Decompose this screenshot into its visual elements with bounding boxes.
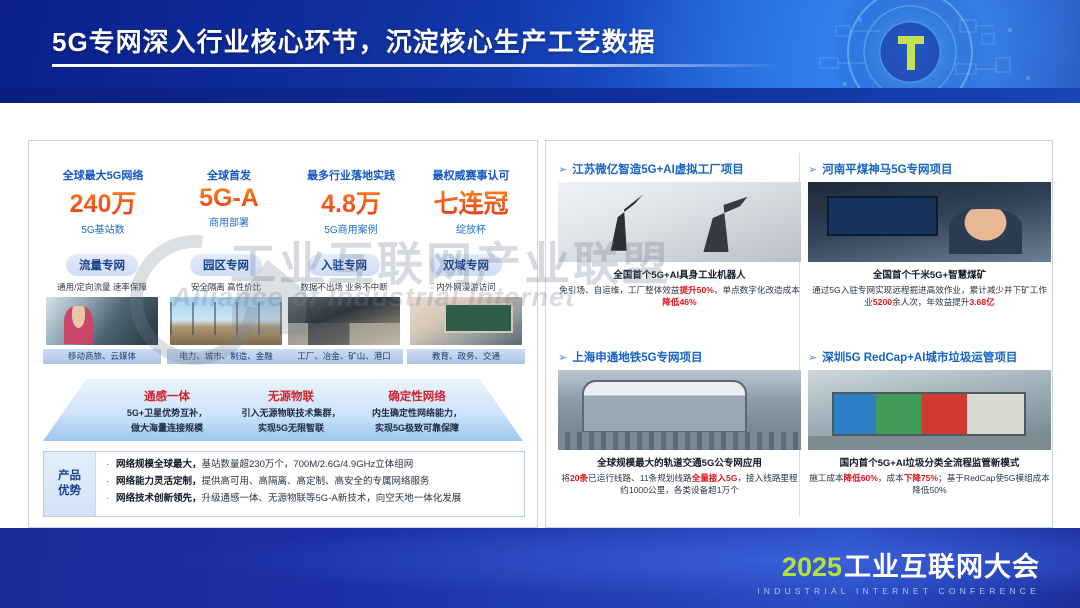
advantages-label-line1: 产品 bbox=[58, 469, 81, 484]
capability-line2: 实现5G极致可靠保障 bbox=[341, 421, 493, 434]
power-grid-photo bbox=[170, 297, 282, 345]
case-body-mid: ，成本 bbox=[878, 473, 904, 483]
case-highlight-1: 降低60% bbox=[844, 473, 878, 483]
case-highlight-2: 下降75% bbox=[904, 473, 938, 483]
case-body-mid: 已运行线路、11条规划线路 bbox=[588, 473, 691, 483]
column-caption: 教育、政务、交通 bbox=[407, 349, 525, 364]
arrow-bullet-icon: ➢ bbox=[558, 163, 567, 176]
advantage-item: · 网络规模全球最大， 基站数量超230万个，700M/2.6G/4.9GHz立… bbox=[106, 458, 518, 471]
classroom-photo bbox=[410, 297, 522, 345]
advantage-bold: 网络技术创新领先， bbox=[116, 492, 202, 505]
product-advantages-box: 产品 优势 · 网络规模全球最大， 基站数量超230万个，700M/2.6G/4… bbox=[43, 451, 525, 517]
case-body: 将20条已运行线路、11条规划线路全量接入5G，接入线路里程约1000公里，各类… bbox=[558, 472, 801, 496]
stat-sub-label: 5G商用案例 bbox=[291, 221, 411, 236]
column-caption: 工厂、冶金、矿山、港口 bbox=[285, 349, 403, 364]
case-headline: 全球规模最大的轨道交通5G公专网应用 bbox=[558, 455, 801, 469]
case-body: 通过5G入驻专网实现远程掘进高效作业，累计减少井下矿工作业5200余人次，年效益… bbox=[808, 284, 1051, 308]
bullet-icon: · bbox=[106, 492, 116, 505]
advantage-rest: 提供高可用、高隔离、高定制、高安全的专属网络服务 bbox=[202, 475, 430, 488]
column-pill-label: 入驻专网 bbox=[308, 254, 380, 276]
case-headline: 全国首个5G+AI具身工业机器人 bbox=[558, 267, 801, 281]
case-title: ➢ 深圳5G RedCap+AI城市垃圾运管项目 bbox=[808, 349, 1051, 365]
stat-sub-label: 商用部署 bbox=[169, 214, 289, 229]
conference-logo-en: INDUSTRIAL INTERNET CONFERENCE bbox=[757, 586, 1040, 596]
header-bottom-bar bbox=[0, 88, 1080, 103]
coal-mine-control-room-photo bbox=[808, 182, 1051, 262]
stat-main-value: 七连冠 bbox=[411, 184, 531, 220]
stat-top-label: 最多行业落地实践 bbox=[291, 167, 411, 183]
column-caption: 电力、城市、制造、金融 bbox=[167, 349, 285, 364]
case-title: ➢ 河南平煤神马5G专网项目 bbox=[808, 161, 1051, 177]
advantage-item: · 网络技术创新领先， 升级通感一体、无源物联等5G-A新技术，向空天地一体化发… bbox=[106, 492, 518, 505]
stat-top-label: 全球首发 bbox=[169, 167, 289, 183]
advantage-bold: 网络规模全球最大， bbox=[116, 458, 202, 471]
slide-header: 5G专网深入行业核心环节，沉淀核心生产工艺数据 bbox=[0, 0, 1080, 103]
case-body-mid: ，单点数字化改造成本 bbox=[714, 285, 800, 295]
stat-main-value: 240万 bbox=[43, 184, 163, 220]
reporter-camera-photo bbox=[46, 297, 158, 345]
capability-title: 确定性网络 bbox=[341, 388, 493, 404]
network-column-3: 双域专网 内外网漫游访问 教育、政务、交通 bbox=[407, 254, 525, 364]
capability-2: 确定性网络 内生确定性网络能力， 实现5G极致可靠保障 bbox=[341, 388, 493, 434]
stat-block-0: 全球最大5G网络 240万 5G基站数 bbox=[43, 167, 163, 236]
metro-train-photo bbox=[558, 370, 801, 450]
advantage-rest: 升级通感一体、无源物联等5G-A新技术，向空天地一体化发展 bbox=[202, 492, 462, 505]
case-headline: 全国首个千米5G+智慧煤矿 bbox=[808, 267, 1051, 281]
case-highlight-2: 全量接入5G bbox=[692, 473, 738, 483]
smart-garbage-bins-photo bbox=[808, 370, 1051, 450]
advantage-item: · 网络能力灵活定制， 提供高可用、高隔离、高定制、高安全的专属网络服务 bbox=[106, 475, 518, 488]
column-pill-label: 流量专网 bbox=[66, 254, 138, 276]
factory-interior-photo bbox=[288, 297, 400, 345]
case-card-0: ➢ 江苏微亿智造5G+AI虚拟工厂项目 全国首个5G+AI具身工业机器人 免引场… bbox=[558, 161, 801, 308]
case-highlight-2: 3.68亿 bbox=[969, 297, 994, 307]
network-column-2: 入驻专网 数据不出场 业务不中断 工厂、冶金、矿山、港口 bbox=[285, 254, 403, 364]
stat-block-3: 最权威赛事认可 七连冠 绽放杯 bbox=[411, 167, 531, 236]
left-panel: 全球最大5G网络 240万 5G基站数 全球首发 5G-A 商用部署 最多行业落… bbox=[28, 140, 538, 528]
stat-block-1: 全球首发 5G-A 商用部署 bbox=[169, 167, 289, 229]
column-description: 内外网漫游访问 bbox=[407, 281, 525, 293]
slide-footer: 2025 工业互联网大会 INDUSTRIAL INTERNET CONFERE… bbox=[0, 528, 1080, 608]
case-headline: 国内首个5G+AI垃圾分类全流程监管新模式 bbox=[808, 455, 1051, 469]
column-pill-label: 园区专网 bbox=[190, 254, 262, 276]
page-title: 5G专网深入行业核心环节，沉淀核心生产工艺数据 bbox=[52, 22, 656, 59]
stat-main-value: 4.8万 bbox=[291, 184, 411, 220]
case-title-text: 江苏微亿智造5G+AI虚拟工厂项目 bbox=[572, 161, 744, 177]
case-title: ➢ 江苏微亿智造5G+AI虚拟工厂项目 bbox=[558, 161, 801, 177]
case-body-pre: 免引场、自运维，工厂整体效益 bbox=[559, 285, 679, 295]
case-body: 免引场、自运维，工厂整体效益提升50%，单点数字化改造成本降低46% bbox=[558, 284, 801, 308]
case-highlight-2: 降低46% bbox=[662, 297, 696, 307]
bullet-icon: · bbox=[106, 475, 116, 488]
advantages-label: 产品 优势 bbox=[44, 452, 96, 516]
advantages-list: · 网络规模全球最大， 基站数量超230万个，700M/2.6G/4.9GHz立… bbox=[96, 452, 524, 516]
case-body-pre: 将 bbox=[561, 473, 570, 483]
case-highlight-1: 提升50% bbox=[679, 285, 713, 295]
column-pill-label: 双域专网 bbox=[430, 254, 502, 276]
stat-block-2: 最多行业落地实践 4.8万 5G商用案例 bbox=[291, 167, 411, 236]
conference-logo-cn: 工业互联网大会 bbox=[844, 545, 1040, 584]
advantage-rest: 基站数量超230万个，700M/2.6G/4.9GHz立体组网 bbox=[202, 458, 414, 471]
network-column-1: 园区专网 安全隔离 高性价比 电力、城市、制造、金融 bbox=[167, 254, 285, 364]
case-body-pre: 施工成本 bbox=[809, 473, 843, 483]
stat-sub-label: 绽放杯 bbox=[411, 221, 531, 236]
advantages-label-line2: 优势 bbox=[58, 484, 81, 499]
stat-top-label: 全球最大5G网络 bbox=[43, 167, 163, 183]
case-title-text: 深圳5G RedCap+AI城市垃圾运管项目 bbox=[822, 349, 1017, 365]
right-panel: ➢ 江苏微亿智造5G+AI虚拟工厂项目 全国首个5G+AI具身工业机器人 免引场… bbox=[545, 140, 1053, 528]
stat-top-label: 最权威赛事认可 bbox=[411, 167, 531, 183]
conference-logo-line: 2025 工业互联网大会 bbox=[757, 545, 1040, 584]
title-underline bbox=[52, 64, 782, 67]
case-card-2: ➢ 上海申通地铁5G专网项目 全球规模最大的轨道交通5G公专网应用 将20条已运… bbox=[558, 349, 801, 496]
case-card-3: ➢ 深圳5G RedCap+AI城市垃圾运管项目 国内首个5G+AI垃圾分类全流… bbox=[808, 349, 1051, 496]
arrow-bullet-icon: ➢ bbox=[808, 163, 817, 176]
arrow-bullet-icon: ➢ bbox=[808, 351, 817, 364]
case-card-1: ➢ 河南平煤神马5G专网项目 全国首个千米5G+智慧煤矿 通过5G入驻专网实现远… bbox=[808, 161, 1051, 308]
network-column-0: 流量专网 通用/定向流量 速率保障 移动商旅、云媒体 bbox=[43, 254, 161, 364]
case-body-mid: 余人次，年效益提升 bbox=[892, 297, 969, 307]
conference-logo-year: 2025 bbox=[782, 552, 842, 583]
bullet-icon: · bbox=[106, 458, 116, 471]
capability-line1: 内生确定性网络能力， bbox=[341, 406, 493, 419]
advantage-bold: 网络能力灵活定制， bbox=[116, 475, 202, 488]
industrial-robot-arm-photo bbox=[558, 182, 801, 262]
stat-sub-label: 5G基站数 bbox=[43, 221, 163, 236]
case-title-text: 上海申通地铁5G专网项目 bbox=[572, 349, 702, 365]
case-highlight-1: 20条 bbox=[570, 473, 588, 483]
arrow-bullet-icon: ➢ bbox=[558, 351, 567, 364]
case-body: 施工成本降低60%，成本下降75%；基于RedCap使5G模组成本降低50% bbox=[808, 472, 1051, 496]
column-caption: 移动商旅、云媒体 bbox=[43, 349, 161, 364]
conference-logo: 2025 工业互联网大会 INDUSTRIAL INTERNET CONFERE… bbox=[757, 545, 1040, 596]
column-description: 数据不出场 业务不中断 bbox=[285, 281, 403, 293]
case-title-text: 河南平煤神马5G专网项目 bbox=[822, 161, 952, 177]
case-highlight-1: 5200 bbox=[873, 297, 892, 307]
column-description: 通用/定向流量 速率保障 bbox=[43, 281, 161, 293]
case-title: ➢ 上海申通地铁5G专网项目 bbox=[558, 349, 801, 365]
stat-main-value: 5G-A bbox=[169, 184, 289, 213]
column-description: 安全隔离 高性价比 bbox=[167, 281, 285, 293]
